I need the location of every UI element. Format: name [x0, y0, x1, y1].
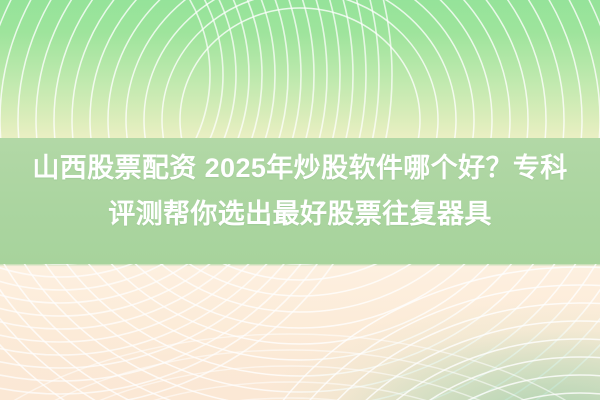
bottom-green-accent — [0, 280, 600, 400]
promo-banner: 山西股票配资 2025年炒股软件哪个好？专科评测帮你选出最好股票往复器具 — [0, 0, 600, 400]
banner-headline: 山西股票配资 2025年炒股软件哪个好？专科评测帮你选出最好股票往复器具 — [0, 145, 600, 237]
